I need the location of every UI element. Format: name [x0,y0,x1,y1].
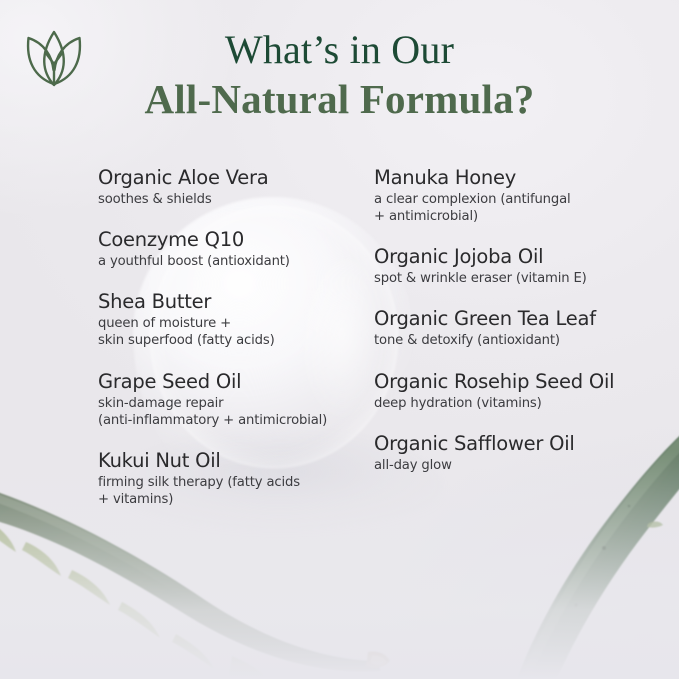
ingredient-description: queen of moisture + skin superfood (fatt… [98,315,360,349]
ingredient-name: Organic Aloe Vera [98,166,360,189]
ingredient-description: deep hydration (vitamins) [374,395,650,412]
ingredient-description: firming silk therapy (fatty acids + vita… [98,474,360,508]
ingredient-description: a youthful boost (antioxidant) [98,253,360,270]
ingredient-column-right: Manuka Honey a clear complexion (antifun… [374,166,650,474]
ingredients-infographic: What’s in Our All-Natural Formula? Organ… [0,0,679,679]
ingredient-column-left: Organic Aloe Vera soothes & shields Coen… [98,166,360,508]
ingredient-columns: Organic Aloe Vera soothes & shields Coen… [0,0,679,679]
ingredient-item: Organic Safflower Oil all-day glow [374,432,650,474]
ingredient-name: Grape Seed Oil [98,370,360,393]
ingredient-item: Kukui Nut Oil firming silk therapy (fatt… [98,449,360,508]
ingredient-item: Grape Seed Oil skin-damage repair (anti-… [98,370,360,429]
ingredient-name: Coenzyme Q10 [98,228,360,251]
ingredient-name: Organic Jojoba Oil [374,245,650,268]
ingredient-item: Organic Aloe Vera soothes & shields [98,166,360,208]
ingredient-item: Shea Butter queen of moisture + skin sup… [98,290,360,349]
ingredient-name: Organic Rosehip Seed Oil [374,370,650,393]
ingredient-description: soothes & shields [98,191,360,208]
ingredient-description: skin-damage repair (anti-inflammatory + … [98,395,360,429]
ingredient-item: Coenzyme Q10 a youthful boost (antioxida… [98,228,360,270]
ingredient-name: Organic Green Tea Leaf [374,307,650,330]
ingredient-name: Kukui Nut Oil [98,449,360,472]
ingredient-name: Shea Butter [98,290,360,313]
ingredient-description: a clear complexion (antifungal + antimic… [374,191,650,225]
ingredient-description: all-day glow [374,457,650,474]
ingredient-item: Organic Rosehip Seed Oil deep hydration … [374,370,650,412]
ingredient-description: spot & wrinkle eraser (vitamin E) [374,270,650,287]
ingredient-description: tone & detoxify (antioxidant) [374,332,650,349]
ingredient-item: Manuka Honey a clear complexion (antifun… [374,166,650,225]
ingredient-item: Organic Jojoba Oil spot & wrinkle eraser… [374,245,650,287]
ingredient-name: Manuka Honey [374,166,650,189]
ingredient-item: Organic Green Tea Leaf tone & detoxify (… [374,307,650,349]
ingredient-name: Organic Safflower Oil [374,432,650,455]
